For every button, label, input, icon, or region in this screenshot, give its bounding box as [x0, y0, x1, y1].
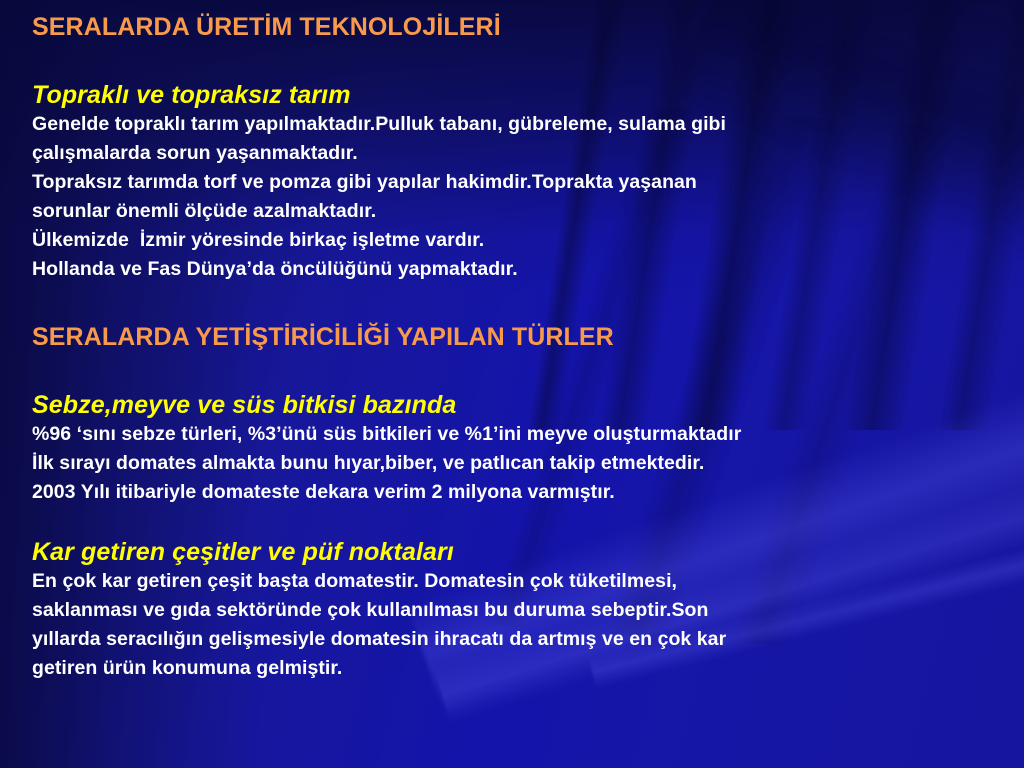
spacer [32, 284, 1006, 322]
body-line: Hollanda ve Fas Dünya’da öncülüğünü yapm… [32, 255, 1006, 284]
section-heading-soil-farming: Topraklı ve topraksız tarım [32, 80, 1006, 110]
body-line: saklanması ve gıda sektöründe çok kullan… [32, 596, 1006, 625]
slide-canvas: SERALARDA ÜRETİM TEKNOLOJİLERİ Topraklı … [0, 0, 1024, 768]
spacer [32, 42, 1006, 80]
section-heading-profitable-varieties: Kar getiren çeşitler ve püf noktaları [32, 537, 1006, 567]
slide-title: SERALARDA ÜRETİM TEKNOLOJİLERİ [32, 12, 1006, 42]
body-line: En çok kar getiren çeşit başta domatesti… [32, 567, 1006, 596]
slide-content: SERALARDA ÜRETİM TEKNOLOJİLERİ Topraklı … [0, 0, 1024, 683]
body-line: Genelde topraklı tarım yapılmaktadır.Pul… [32, 110, 1006, 139]
body-line: yıllarda seracılığın gelişmesiyle domate… [32, 625, 1006, 654]
spacer [32, 507, 1006, 537]
spacer [32, 352, 1006, 390]
body-line: %96 ‘sını sebze türleri, %3’ünü süs bitk… [32, 420, 1006, 449]
body-line: çalışmalarda sorun yaşanmaktadır. [32, 139, 1006, 168]
section-heading-cultivated-species: SERALARDA YETİŞTİRİCİLİĞİ YAPILAN TÜRLER [32, 322, 1006, 352]
section-heading-vegetable-fruit-ornamental: Sebze,meyve ve süs bitkisi bazında [32, 390, 1006, 420]
body-line: Ülkemizde İzmir yöresinde birkaç işletme… [32, 226, 1006, 255]
body-line: 2003 Yılı itibariyle domateste dekara ve… [32, 478, 1006, 507]
body-line: Topraksız tarımda torf ve pomza gibi yap… [32, 168, 1006, 197]
body-line: İlk sırayı domates almakta bunu hıyar,bi… [32, 449, 1006, 478]
body-line: sorunlar önemli ölçüde azalmaktadır. [32, 197, 1006, 226]
body-line: getiren ürün konumuna gelmiştir. [32, 654, 1006, 683]
